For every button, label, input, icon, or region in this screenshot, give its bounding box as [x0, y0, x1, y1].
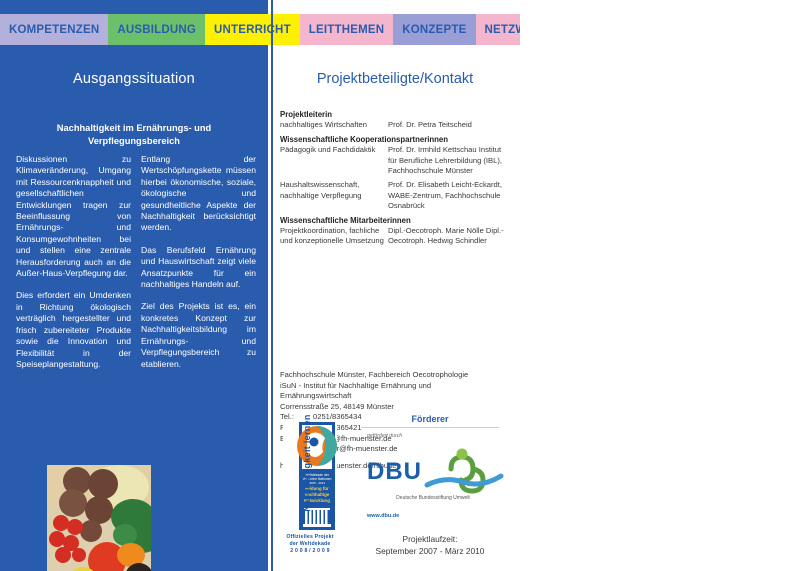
funding-section: Förderer gefördert durch DBU Deutsche Bu…	[345, 414, 515, 557]
nav-item-label: KOMPETENZEN	[9, 24, 99, 36]
left-column: Ausgangssituation Nachhaltigkeit im Ernä…	[0, 60, 268, 571]
address-line-3: Ernährungswirtschaft	[280, 391, 514, 402]
left-column-subtitle: Nachhaltigkeit im Ernährungs- und Verpfl…	[22, 122, 246, 147]
paragraph: Entlang der Wertschöpfungskette müssen h…	[141, 154, 256, 234]
contact-row: Haushaltswissenschaft, nachhaltige Verpf…	[280, 180, 514, 211]
contact-role: Haushaltswissenschaft, nachhaltige Verpf…	[280, 180, 388, 211]
column-divider	[271, 0, 273, 571]
contact-role: nachhaltiges Wirtschaften	[280, 120, 388, 130]
top-navigation[interactable]: KOMPETENZENAUSBILDUNGUNTERRICHTLEITTHEME…	[0, 14, 560, 45]
contact-person: Prof. Dr. Elisabeth Leicht-Eckardt, WABE…	[388, 180, 508, 211]
unesco-decade-logo-icon: Weltdekade der Vereinten Nationen 2005 -…	[283, 420, 337, 556]
vegetables-photo	[47, 465, 151, 571]
contact-section-heading: Wissenschaftliche Mitarbeiterinnen	[280, 216, 514, 226]
vegetables-photo-frame	[40, 458, 158, 571]
decade-caption: Offizielles Projekt der Weltdekade 2 0 0…	[283, 534, 337, 555]
contact-person: Dipl.-Oecotroph. Marie Nölle Dipl.-Oecot…	[388, 226, 508, 247]
contact-role: Pädagogik und Fachdidaktik	[280, 145, 388, 176]
address-line-1: Fachhochschule Münster, Fachbereich Oeco…	[280, 370, 514, 381]
paragraph: Ziel des Projekts ist es, ein konkretes …	[141, 301, 256, 369]
funding-title: Förderer	[345, 414, 515, 424]
contact-row: Projektkoordination, fachliche und konze…	[280, 226, 514, 247]
nav-item-label: UNTERRICHT	[214, 24, 291, 36]
contact-section-heading: Wissenschaftliche Kooperationspartnerinn…	[280, 135, 514, 145]
contact-row: nachhaltiges WirtschaftenProf. Dr. Petra…	[280, 120, 514, 130]
nav-item-unterricht[interactable]: UNTERRICHT	[205, 14, 300, 45]
decade-vertical-label: Nachhaltigkeit lernen	[302, 411, 312, 515]
decade-caption-1: Offizielles Projekt	[283, 534, 337, 541]
contact-person: Prof. Dr. Irmhild Kettschau Institut für…	[388, 145, 508, 176]
dbu-logo-icon: DBU Deutsche Bundesstiftung Umwelt	[345, 439, 515, 513]
paragraph: Dies erfordert ein Umdenken in Richtung …	[16, 290, 131, 370]
left-text-column-1: Diskussionen zu Klimaveränderung, Umgang…	[16, 154, 131, 381]
address-line-2: iSuN - Institut für Nachhaltige Ernährun…	[280, 381, 514, 392]
nav-item-leitthemen[interactable]: LEITTHEMEN	[300, 14, 393, 45]
nav-item-label: AUSBILDUNG	[117, 24, 196, 36]
nav-item-ausbildung[interactable]: AUSBILDUNG	[108, 14, 205, 45]
contact-row: Pädagogik und FachdidaktikProf. Dr. Irmh…	[280, 145, 514, 176]
project-duration-value: September 2007 - März 2010	[345, 545, 515, 557]
funded-by-label: gefördert durch	[345, 428, 515, 439]
left-text-columns: Diskussionen zu Klimaveränderung, Umgang…	[16, 154, 256, 381]
project-contacts-list: Projektleiterinnachhaltiges Wirtschaften…	[280, 110, 514, 251]
decade-caption-2: der Weltdekade	[283, 541, 337, 548]
paragraph: Diskussionen zu Klimaveränderung, Umgang…	[16, 154, 131, 279]
dbu-subtitle: Deutsche Bundesstiftung Umwelt	[363, 495, 503, 501]
middle-column-title: Projektbeteiligte/Kontakt	[276, 71, 514, 87]
right-column: Nachhaltigkeit in Bildung und Praxis des…	[520, 0, 800, 571]
nav-item-label: LEITTHEMEN	[309, 24, 384, 36]
contact-section-heading: Projektleiterin	[280, 110, 514, 120]
project-duration-label: Projektlaufzeit:	[345, 533, 515, 545]
nav-item-konzepte[interactable]: KONZEPTE	[393, 14, 475, 45]
decade-caption-3: 2 0 0 8 / 2 0 0 9	[283, 548, 337, 555]
svg-text:DBU: DBU	[367, 458, 422, 485]
contact-person: Prof. Dr. Petra Teitscheid	[388, 120, 508, 130]
left-column-title: Ausgangssituation	[0, 71, 268, 87]
contact-role: Projektkoordination, fachliche und konze…	[280, 226, 388, 247]
brochure-page: KOMPETENZENAUSBILDUNGUNTERRICHTLEITTHEME…	[0, 0, 800, 571]
nav-item-kompetenzen[interactable]: KOMPETENZEN	[0, 14, 108, 45]
paragraph: Das Berufsfeld Ernährung und Hauswirtsch…	[141, 245, 256, 291]
nav-item-label: KONZEPTE	[402, 24, 466, 36]
address-line-4: Corrensstraße 25, 48149 Münster	[280, 402, 514, 413]
project-duration: Projektlaufzeit: September 2007 - März 2…	[345, 519, 515, 557]
spacer	[280, 247, 514, 251]
left-text-column-2: Entlang der Wertschöpfungskette müssen h…	[141, 154, 256, 381]
